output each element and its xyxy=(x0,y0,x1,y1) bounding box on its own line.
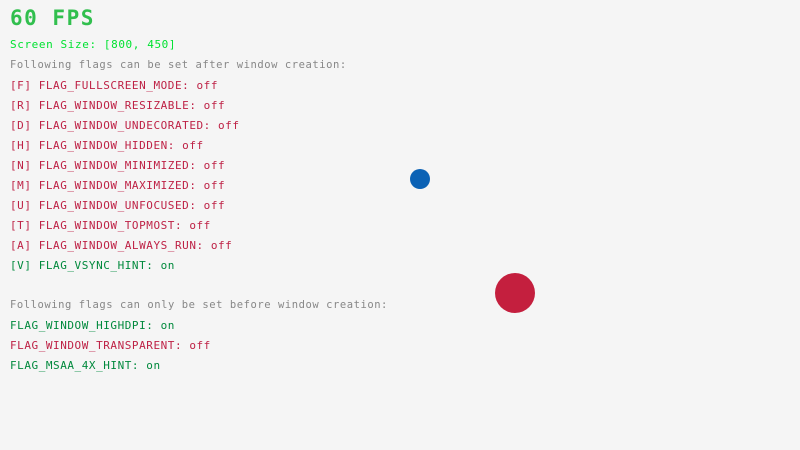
flag-row-flag-fullscreen-mode[interactable]: [F] FLAG_FULLSCREEN_MODE: off xyxy=(10,80,218,91)
flag-row-flag-window-undecorated[interactable]: [D] FLAG_WINDOW_UNDECORATED: off xyxy=(10,120,240,131)
red-ball-shape xyxy=(495,273,535,313)
section-header-after-creation: Following flags can be set after window … xyxy=(10,60,347,71)
flag-row-flag-window-resizable[interactable]: [R] FLAG_WINDOW_RESIZABLE: off xyxy=(10,100,225,111)
flag-row-flag-window-unfocused[interactable]: [U] FLAG_WINDOW_UNFOCUSED: off xyxy=(10,200,225,211)
blue-ball-shape xyxy=(410,169,430,189)
flag-row-flag-vsync-hint[interactable]: [V] FLAG_VSYNC_HINT: on xyxy=(10,260,175,271)
flag-row-flag-window-minimized[interactable]: [N] FLAG_WINDOW_MINIMIZED: off xyxy=(10,160,225,171)
flag-row-flag-msaa-4x-hint[interactable]: FLAG_MSAA_4X_HINT: on xyxy=(10,360,161,371)
flag-row-flag-window-maximized[interactable]: [M] FLAG_WINDOW_MAXIMIZED: off xyxy=(10,180,225,191)
flag-row-flag-window-always-run[interactable]: [A] FLAG_WINDOW_ALWAYS_RUN: off xyxy=(10,240,232,251)
flag-row-flag-window-transparent[interactable]: FLAG_WINDOW_TRANSPARENT: off xyxy=(10,340,211,351)
screen-size-label: Screen Size: [800, 450] xyxy=(10,39,176,50)
flag-row-flag-window-topmost[interactable]: [T] FLAG_WINDOW_TOPMOST: off xyxy=(10,220,211,231)
section-header-before-creation: Following flags can only be set before w… xyxy=(10,300,388,311)
flag-row-flag-window-highdpi[interactable]: FLAG_WINDOW_HIGHDPI: on xyxy=(10,320,175,331)
fps-counter: 60 FPS xyxy=(10,8,95,29)
application-window: 60 FPS Screen Size: [800, 450] Following… xyxy=(0,0,800,450)
flag-row-flag-window-hidden[interactable]: [H] FLAG_WINDOW_HIDDEN: off xyxy=(10,140,204,151)
